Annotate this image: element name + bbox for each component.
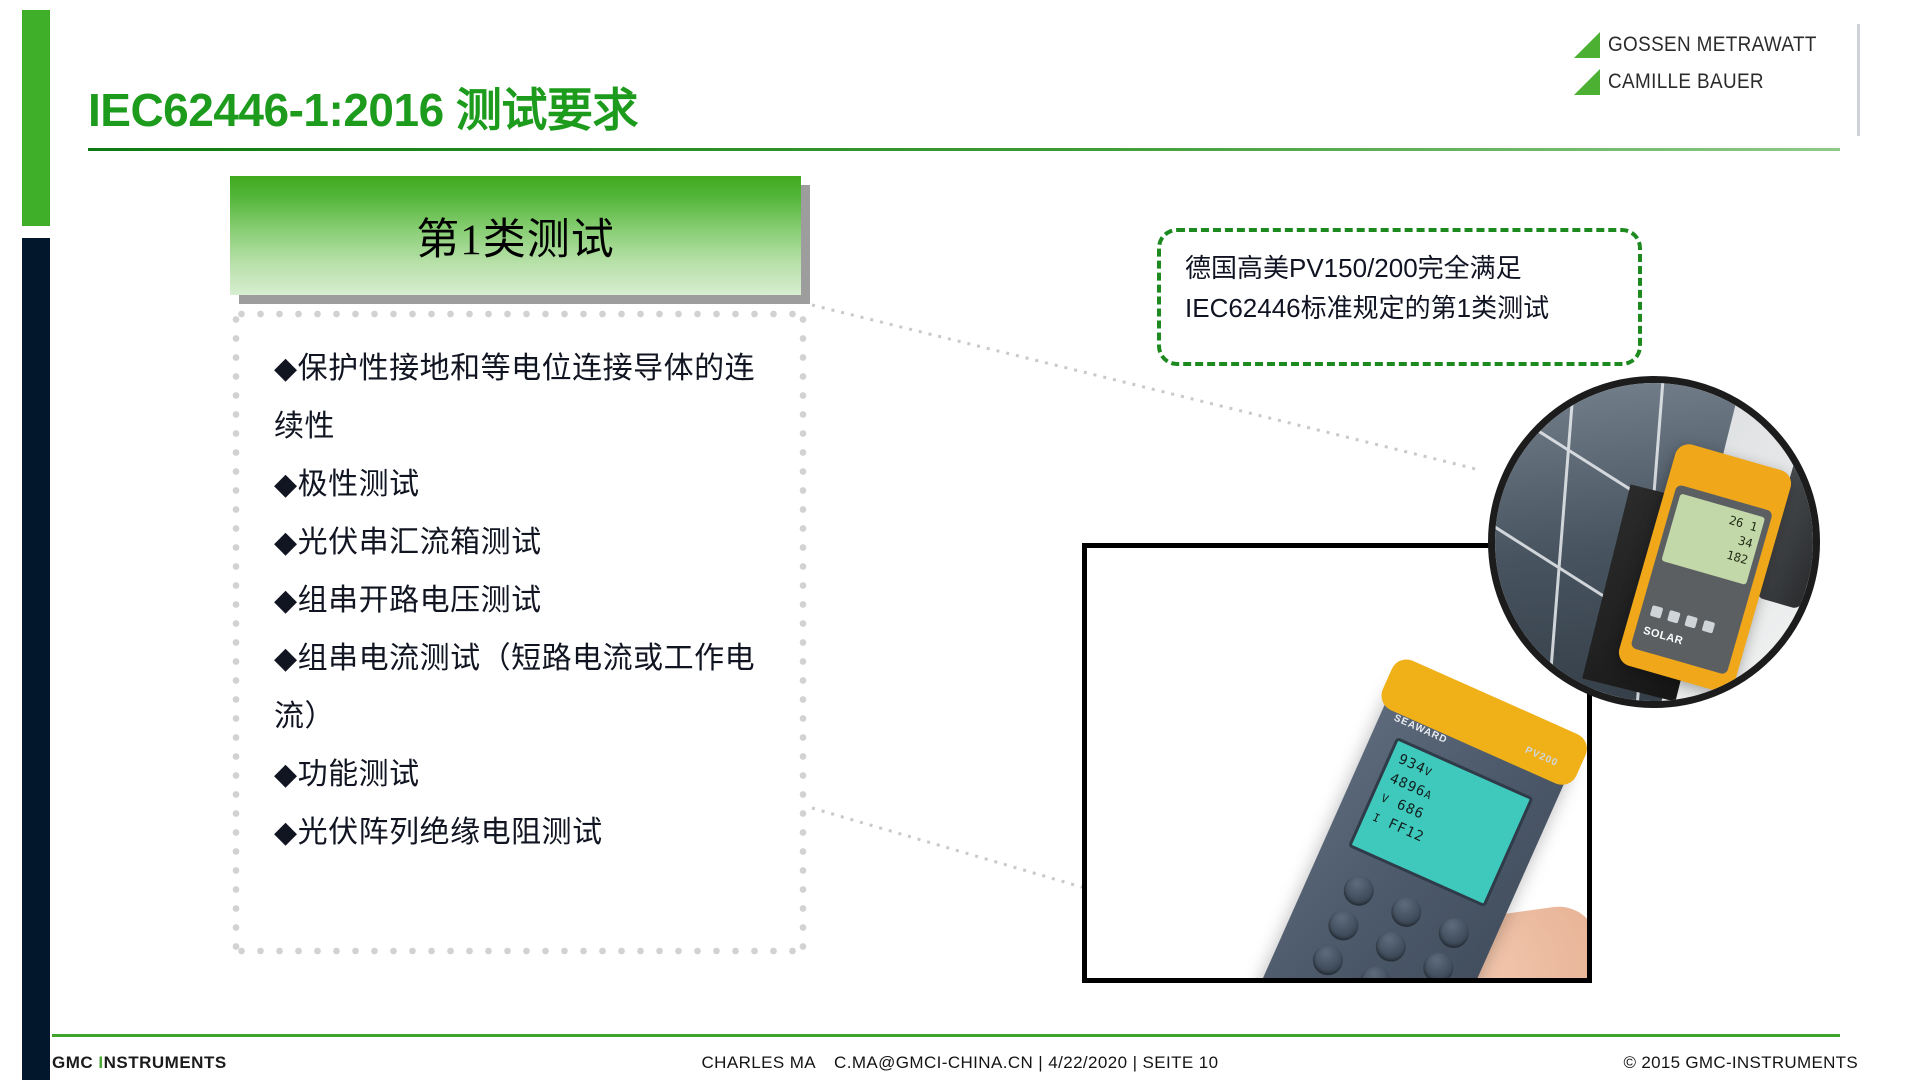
left-edge-navy-bar bbox=[22, 238, 50, 1080]
list-item: ◆光伏阵列绝缘电阻测试 bbox=[274, 804, 781, 862]
dotted-border-bottom bbox=[232, 947, 807, 955]
logo-row-camille-bauer: CAMILLE BAUER bbox=[1574, 69, 1840, 95]
banner-body: 第1类测试 bbox=[230, 176, 801, 295]
logo-divider bbox=[1857, 24, 1860, 136]
inset-button bbox=[1702, 620, 1716, 634]
callout-box: 德国高美PV150/200完全满足 IEC62446标准规定的第1类测试 bbox=[1157, 228, 1642, 366]
footer-author: CHARLES MA bbox=[701, 1053, 816, 1072]
brand-logo: GOSSEN METRAWATT CAMILLE BAUER bbox=[1574, 32, 1840, 95]
footer-copyright: © 2015 GMC-INSTRUMENTS bbox=[1624, 1053, 1859, 1073]
title-underline bbox=[88, 148, 1840, 151]
device-key bbox=[1339, 871, 1379, 911]
connector-line-bottom bbox=[812, 808, 1085, 888]
logo-label-camille-bauer: CAMILLE BAUER bbox=[1608, 70, 1764, 94]
left-edge-green-bar bbox=[22, 10, 50, 226]
triangle-icon bbox=[1574, 32, 1600, 58]
bullet-panel: ◆保护性接地和等电位连接导体的连续性 ◆极性测试 ◆光伏串汇流箱测试 ◆组串开路… bbox=[232, 310, 807, 955]
inset-button bbox=[1650, 605, 1664, 619]
callout-line-2: IEC62446标准规定的第1类测试 bbox=[1185, 288, 1616, 328]
device-key bbox=[1293, 975, 1333, 983]
dotted-border-right bbox=[799, 310, 807, 955]
inset-button bbox=[1667, 610, 1681, 624]
device-key bbox=[1419, 948, 1459, 983]
device-key bbox=[1356, 961, 1396, 983]
lcd-label-4: I bbox=[1370, 811, 1382, 826]
hand-holding-device: SEAWARD PV200 934V 4896A V 686 I FF12 bbox=[1237, 668, 1567, 983]
list-item: ◆保护性接地和等电位连接导体的连续性 bbox=[274, 340, 781, 456]
device-key bbox=[1324, 906, 1364, 946]
device-key bbox=[1386, 892, 1426, 932]
device-key bbox=[1308, 940, 1348, 980]
device-key bbox=[1434, 913, 1474, 953]
footer-divider bbox=[52, 1034, 1840, 1037]
page-title: IEC62446-1:2016 测试要求 bbox=[88, 74, 638, 140]
triangle-icon bbox=[1574, 69, 1600, 95]
list-item: ◆组串电流测试（短路电流或工作电流） bbox=[274, 630, 781, 746]
lcd-label-3: V bbox=[1379, 792, 1391, 807]
device-key bbox=[1371, 927, 1411, 967]
inset-lcd-screen: 26 1 34 182 bbox=[1661, 493, 1765, 585]
list-item: ◆组串开路电压测试 bbox=[274, 572, 781, 630]
dotted-border-left bbox=[232, 310, 240, 955]
bullet-list: ◆保护性接地和等电位连接导体的连续性 ◆极性测试 ◆光伏串汇流箱测试 ◆组串开路… bbox=[274, 340, 781, 862]
product-photo-inset: 26 1 34 182 SOLAR bbox=[1488, 376, 1820, 708]
inset-button bbox=[1684, 615, 1698, 629]
dotted-border-top bbox=[232, 310, 807, 318]
list-item: ◆光伏串汇流箱测试 bbox=[274, 514, 781, 572]
logo-label-gossen-metrawatt: GOSSEN METRAWATT bbox=[1608, 33, 1817, 57]
logo-row-gossen-metrawatt: GOSSEN METRAWATT bbox=[1574, 32, 1840, 58]
list-item: ◆极性测试 bbox=[274, 456, 781, 514]
footer-contact-meta: C.MA@GMCI-CHINA.CN | 4/22/2020 | SEITE 1… bbox=[834, 1053, 1218, 1072]
inset-brand-label: SOLAR bbox=[1642, 625, 1685, 648]
callout-line-1: 德国高美PV150/200完全满足 bbox=[1185, 248, 1616, 288]
list-item: ◆功能测试 bbox=[274, 746, 781, 804]
section-banner: 第1类测试 bbox=[230, 176, 810, 304]
banner-label: 第1类测试 bbox=[416, 205, 615, 267]
